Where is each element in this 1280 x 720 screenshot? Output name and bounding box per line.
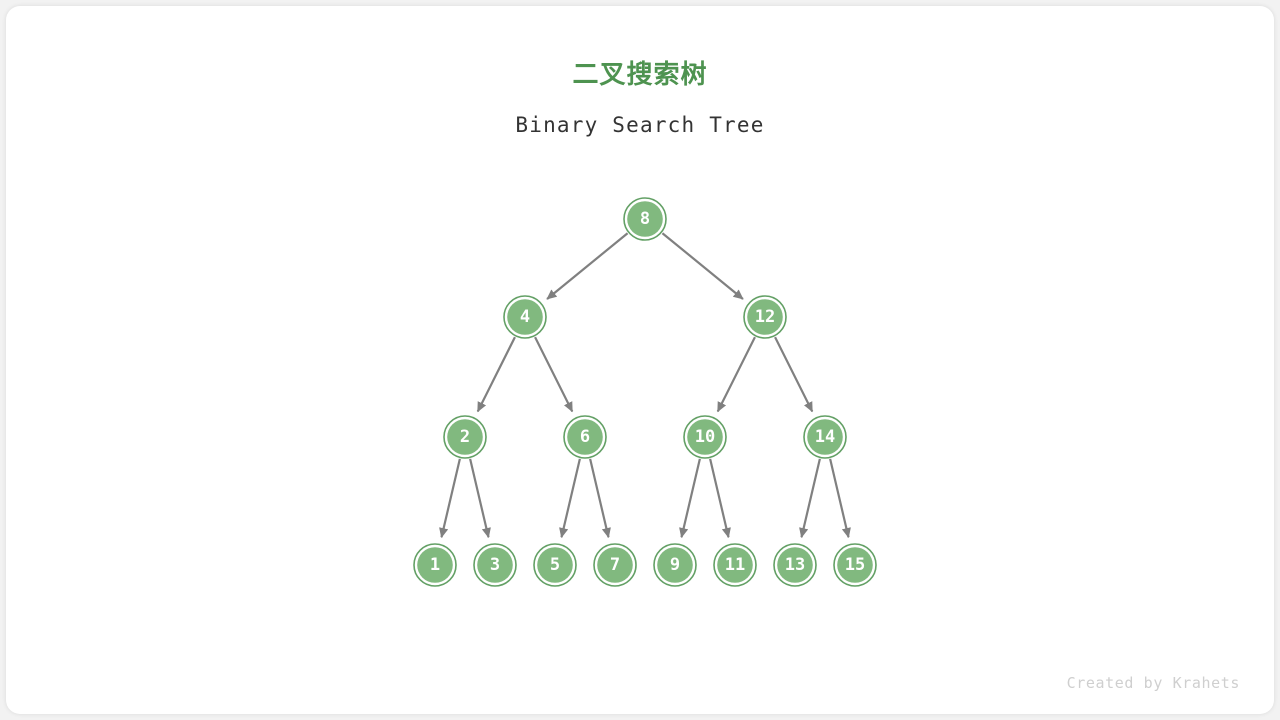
tree-edge bbox=[775, 337, 812, 411]
tree-edge bbox=[662, 233, 742, 299]
tree-node[interactable]: 12 bbox=[744, 296, 786, 338]
tree-edge bbox=[802, 459, 820, 537]
node-label: 6 bbox=[580, 427, 590, 447]
node-label: 11 bbox=[725, 555, 745, 575]
tree-node[interactable]: 7 bbox=[594, 544, 636, 586]
node-label: 4 bbox=[520, 307, 530, 327]
binary-search-tree-diagram: 841226101413579111315 bbox=[6, 6, 1274, 714]
node-label: 10 bbox=[695, 427, 715, 447]
tree-edge bbox=[535, 337, 572, 411]
app-root: 二叉搜索树 Binary Search Tree 841226101413579… bbox=[0, 0, 1280, 720]
node-label: 9 bbox=[670, 555, 680, 575]
tree-edge bbox=[590, 459, 608, 537]
tree-node[interactable]: 9 bbox=[654, 544, 696, 586]
node-label: 5 bbox=[550, 555, 560, 575]
node-label: 13 bbox=[785, 555, 805, 575]
tree-edge bbox=[478, 337, 515, 411]
tree-node[interactable]: 14 bbox=[804, 416, 846, 458]
tree-node[interactable]: 13 bbox=[774, 544, 816, 586]
tree-node[interactable]: 1 bbox=[414, 544, 456, 586]
tree-edge bbox=[710, 459, 728, 537]
tree-node[interactable]: 5 bbox=[534, 544, 576, 586]
credit-label: Created by Krahets bbox=[1067, 674, 1240, 692]
tree-edge bbox=[718, 337, 755, 411]
tree-edge bbox=[830, 459, 848, 537]
tree-nodes: 841226101413579111315 bbox=[414, 198, 876, 586]
node-label: 7 bbox=[610, 555, 620, 575]
tree-node[interactable]: 10 bbox=[684, 416, 726, 458]
tree-edge bbox=[442, 459, 460, 537]
node-label: 15 bbox=[845, 555, 865, 575]
tree-edge bbox=[470, 459, 488, 537]
node-label: 1 bbox=[430, 555, 440, 575]
tree-node[interactable]: 4 bbox=[504, 296, 546, 338]
tree-node[interactable]: 11 bbox=[714, 544, 756, 586]
tree-edge bbox=[682, 459, 700, 537]
tree-edge bbox=[562, 459, 580, 537]
diagram-card: 二叉搜索树 Binary Search Tree 841226101413579… bbox=[6, 6, 1274, 714]
tree-canvas: 841226101413579111315 bbox=[6, 6, 1274, 714]
node-label: 2 bbox=[460, 427, 470, 447]
node-label: 8 bbox=[640, 209, 650, 229]
tree-node[interactable]: 6 bbox=[564, 416, 606, 458]
node-label: 3 bbox=[490, 555, 500, 575]
tree-node[interactable]: 2 bbox=[444, 416, 486, 458]
tree-node[interactable]: 8 bbox=[624, 198, 666, 240]
tree-edges bbox=[442, 233, 849, 537]
node-label: 12 bbox=[755, 307, 775, 327]
tree-node[interactable]: 3 bbox=[474, 544, 516, 586]
tree-edge bbox=[547, 233, 627, 299]
node-label: 14 bbox=[815, 427, 835, 447]
tree-node[interactable]: 15 bbox=[834, 544, 876, 586]
